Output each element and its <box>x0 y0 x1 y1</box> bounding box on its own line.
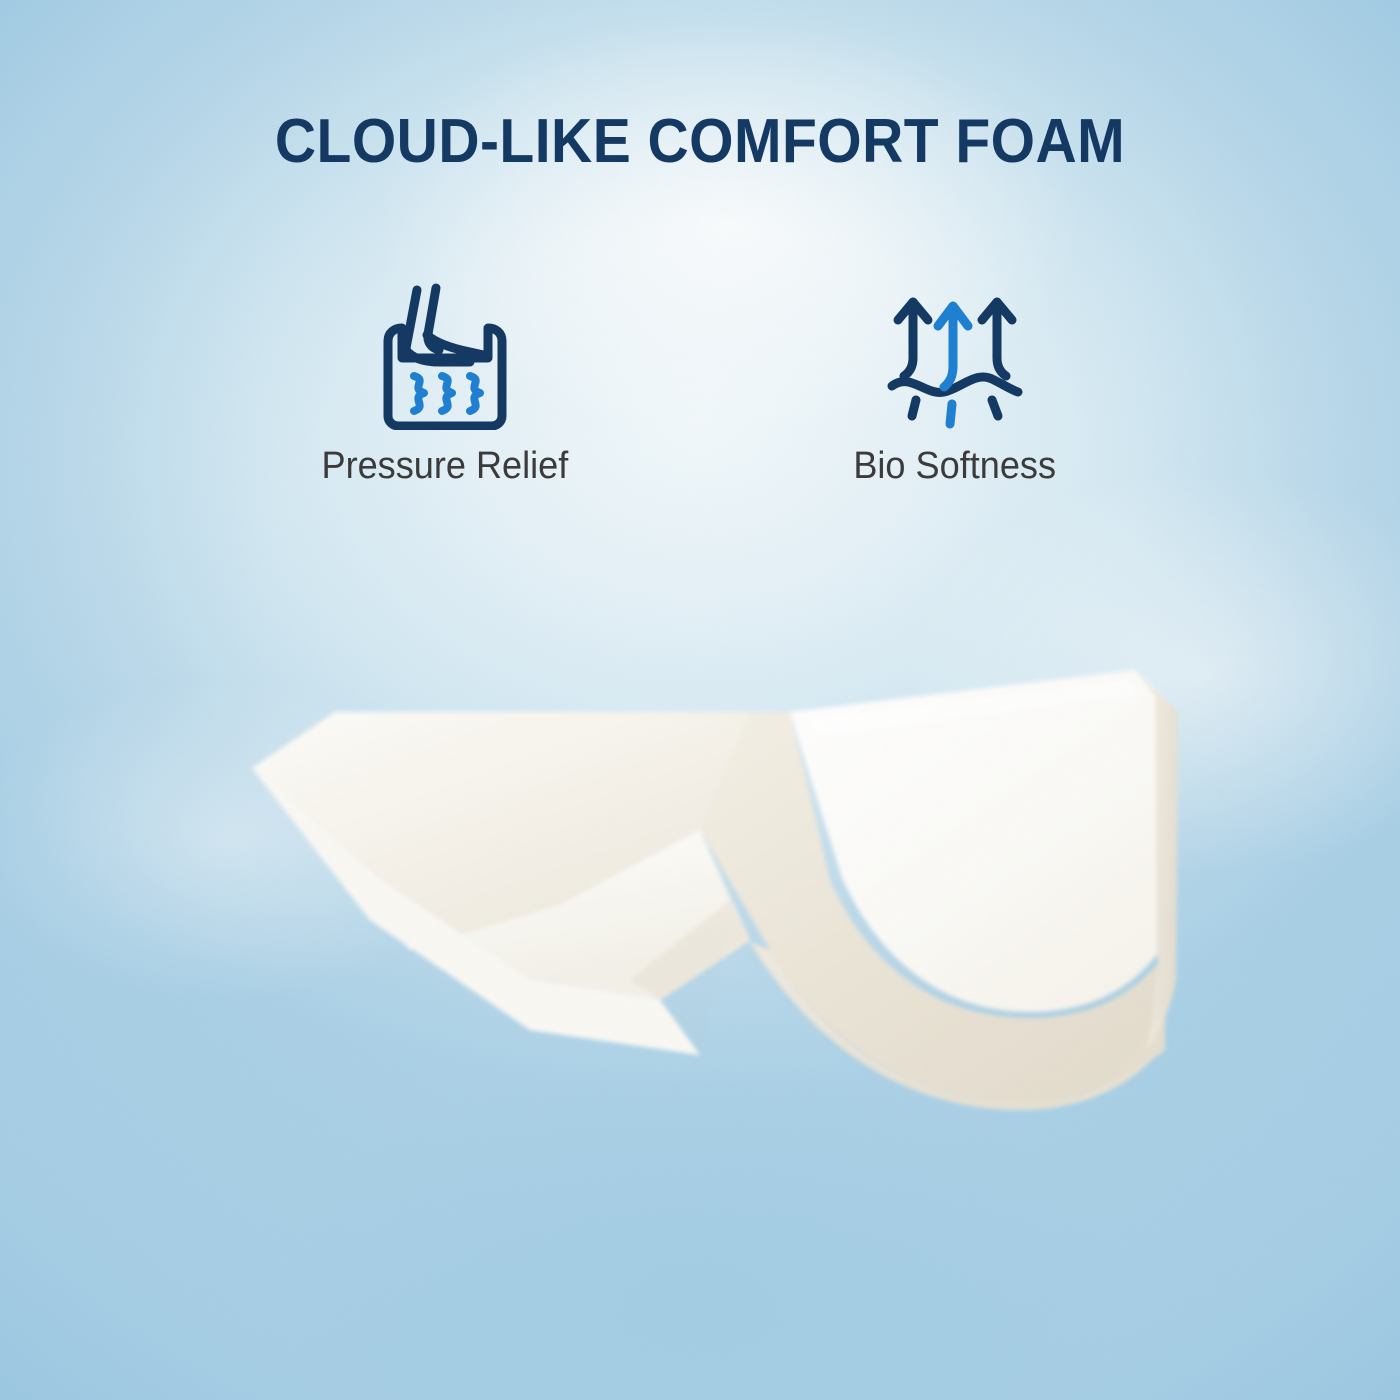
product-feature-image: CLOUD-LIKE COMFORT FOAM <box>0 0 1400 1400</box>
feature-label: Pressure Relief <box>322 444 569 488</box>
feature-item-pressure-relief: Pressure Relief <box>295 280 595 488</box>
pressure-relief-icon <box>370 280 520 430</box>
page-title: CLOUD-LIKE COMFORT FOAM <box>56 108 1344 176</box>
bio-softness-icon <box>880 280 1030 430</box>
memory-foam-slab <box>230 650 1190 1120</box>
feature-list: Pressure Relief <box>0 280 1400 488</box>
feature-label: Bio Softness <box>854 444 1057 488</box>
feature-item-bio-softness: Bio Softness <box>805 280 1105 488</box>
